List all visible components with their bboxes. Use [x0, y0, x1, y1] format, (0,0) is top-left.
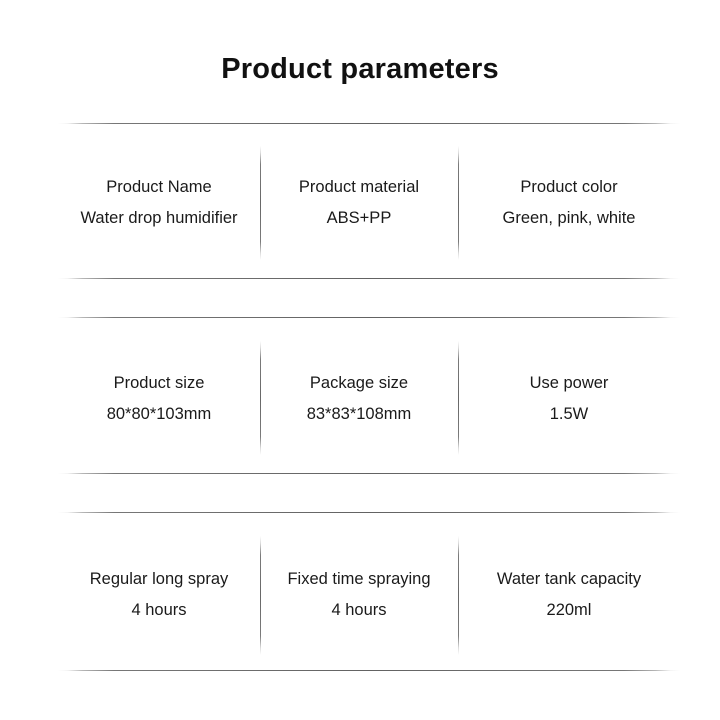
divider-row2-col1: [260, 341, 261, 455]
cell-value: 220ml: [547, 595, 592, 626]
cell-value: 4 hours: [131, 595, 186, 626]
table-cell-use-power: Use power 1.5W: [458, 368, 680, 430]
cell-value: 1.5W: [550, 399, 589, 430]
table-row: Product size 80*80*103mm Package size 83…: [58, 344, 680, 454]
cell-label: Product Name: [106, 172, 211, 203]
divider-row3-col2: [458, 536, 459, 655]
cell-value: 80*80*103mm: [107, 399, 212, 430]
divider-row3-top: [58, 512, 680, 513]
cell-label: Package size: [310, 368, 408, 399]
divider-row2-top: [58, 317, 680, 318]
table-row: Regular long spray 4 hours Fixed time sp…: [58, 540, 680, 650]
product-parameters-page: Product parameters Product Name Water dr…: [0, 0, 720, 720]
table-cell-product-size: Product size 80*80*103mm: [58, 368, 260, 430]
table-cell-product-material: Product material ABS+PP: [260, 172, 458, 234]
divider-row2-col2: [458, 341, 459, 455]
cell-value: Green, pink, white: [503, 203, 636, 234]
divider-row3-col1: [260, 536, 261, 655]
table-cell-regular-long-spray: Regular long spray 4 hours: [58, 564, 260, 626]
page-title: Product parameters: [0, 48, 720, 90]
cell-value: 83*83*108mm: [307, 399, 412, 430]
table-row: Product Name Water drop humidifier Produ…: [58, 148, 680, 258]
divider-row1-col2: [458, 146, 459, 260]
cell-label: Product size: [114, 368, 205, 399]
table-cell-product-name: Product Name Water drop humidifier: [58, 172, 260, 234]
table-cell-water-tank-capacity: Water tank capacity 220ml: [458, 564, 680, 626]
table-cell-package-size: Package size 83*83*108mm: [260, 368, 458, 430]
divider-row2-bottom: [58, 473, 680, 474]
cell-label: Water tank capacity: [497, 564, 641, 595]
table-cell-fixed-time-spraying: Fixed time spraying 4 hours: [260, 564, 458, 626]
divider-row3-bottom: [58, 670, 680, 671]
cell-value: Water drop humidifier: [80, 203, 237, 234]
divider-row1-top: [58, 123, 680, 124]
cell-value: 4 hours: [331, 595, 386, 626]
cell-label: Product material: [299, 172, 419, 203]
divider-row1-col1: [260, 146, 261, 260]
divider-row1-bottom: [58, 278, 680, 279]
cell-label: Use power: [530, 368, 609, 399]
table-cell-product-color: Product color Green, pink, white: [458, 172, 680, 234]
cell-label: Regular long spray: [90, 564, 229, 595]
cell-label: Product color: [520, 172, 617, 203]
cell-label: Fixed time spraying: [287, 564, 430, 595]
cell-value: ABS+PP: [327, 203, 392, 234]
